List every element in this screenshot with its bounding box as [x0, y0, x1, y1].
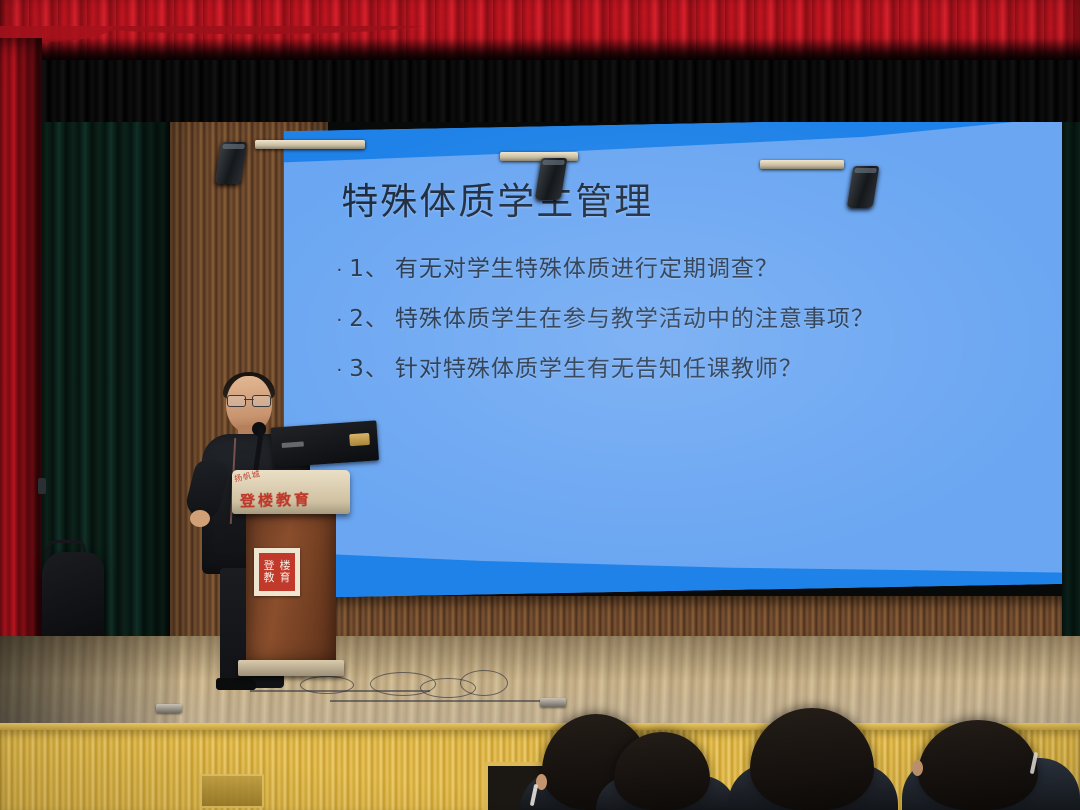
laptop-logo	[282, 441, 304, 448]
bullet-number: 2、	[349, 299, 389, 333]
bullet-marker-icon: ·	[337, 362, 344, 380]
side-curtain-red-left	[0, 38, 42, 718]
red-valance-edge	[0, 26, 1080, 72]
slide-title: 特殊体质学生管理	[341, 171, 653, 225]
podium-seal-characters: 登 楼 教 育	[259, 553, 295, 591]
light-bar-1	[255, 140, 365, 149]
bullet-text: 有无对学生特殊体质进行定期调查？	[395, 249, 779, 283]
slide-bullet-1: · 1、 有无对学生特殊体质进行定期调查？	[337, 249, 1037, 283]
floor-cable-loop-4	[460, 670, 508, 696]
podium: 登 楼 教 育 扬帆城 登楼教育	[232, 470, 350, 685]
slide-bullet-3: · 3、 针对特殊体质学生有无告知任课教师？	[337, 349, 1037, 383]
side-curtain-dark-right	[1062, 96, 1080, 656]
cable-connector-box	[540, 698, 566, 707]
bullet-number: 1、	[349, 249, 389, 283]
red-valance	[0, 0, 1080, 60]
audience-ear-1	[536, 774, 547, 790]
podium-base	[238, 660, 344, 676]
bullet-marker-icon: ·	[337, 262, 344, 280]
audience-ear-4	[912, 760, 923, 776]
apron-vent-panel	[200, 774, 264, 808]
auditorium-scene: 特殊体质学生管理 · 1、 有无对学生特殊体质进行定期调查？ · 2、 特殊体质…	[0, 0, 1080, 810]
projection-screen: 特殊体质学生管理 · 1、 有无对学生特殊体质进行定期调查？ · 2、 特殊体质…	[284, 116, 1080, 598]
bullet-text: 针对特殊体质学生有无告知任课教师？	[395, 349, 803, 383]
bullet-marker-icon: ·	[337, 312, 344, 330]
cable-connector-box-left	[156, 704, 182, 713]
wood-slat-wall-bottom	[300, 596, 1080, 640]
seal-char-3: 教	[261, 572, 277, 584]
stage-floor-shadow-left	[0, 636, 180, 736]
slide-content: 特殊体质学生管理 · 1、 有无对学生特殊体质进行定期调查？ · 2、 特殊体质…	[284, 116, 1080, 598]
equipment-pole	[38, 478, 46, 494]
slide-bullet-2: · 2、 特殊体质学生在参与教学活动中的注意事项？	[337, 299, 1037, 333]
bullet-text: 特殊体质学生在参与教学活动中的注意事项？	[395, 299, 875, 333]
podium-side-tag: 扬帆城	[233, 470, 262, 485]
podium-calligraphy-text: 登楼教育	[240, 488, 345, 512]
laptop-lid	[271, 420, 380, 467]
light-bar-3	[760, 160, 844, 169]
seal-char-4: 育	[277, 572, 293, 584]
glasses-icon	[227, 395, 271, 405]
speaker-left-hand	[190, 510, 210, 527]
bullet-number: 3、	[349, 349, 389, 383]
floor-cable-run-2	[330, 700, 560, 702]
laptop	[271, 420, 380, 473]
laptop-sticker	[349, 433, 370, 446]
podium-top-panel: 扬帆城 登楼教育	[232, 470, 350, 514]
podium-seal: 登 楼 教 育	[254, 548, 300, 596]
slide-bullet-list: · 1、 有无对学生特殊体质进行定期调查？ · 2、 特殊体质学生在参与教学活动…	[337, 249, 1037, 399]
